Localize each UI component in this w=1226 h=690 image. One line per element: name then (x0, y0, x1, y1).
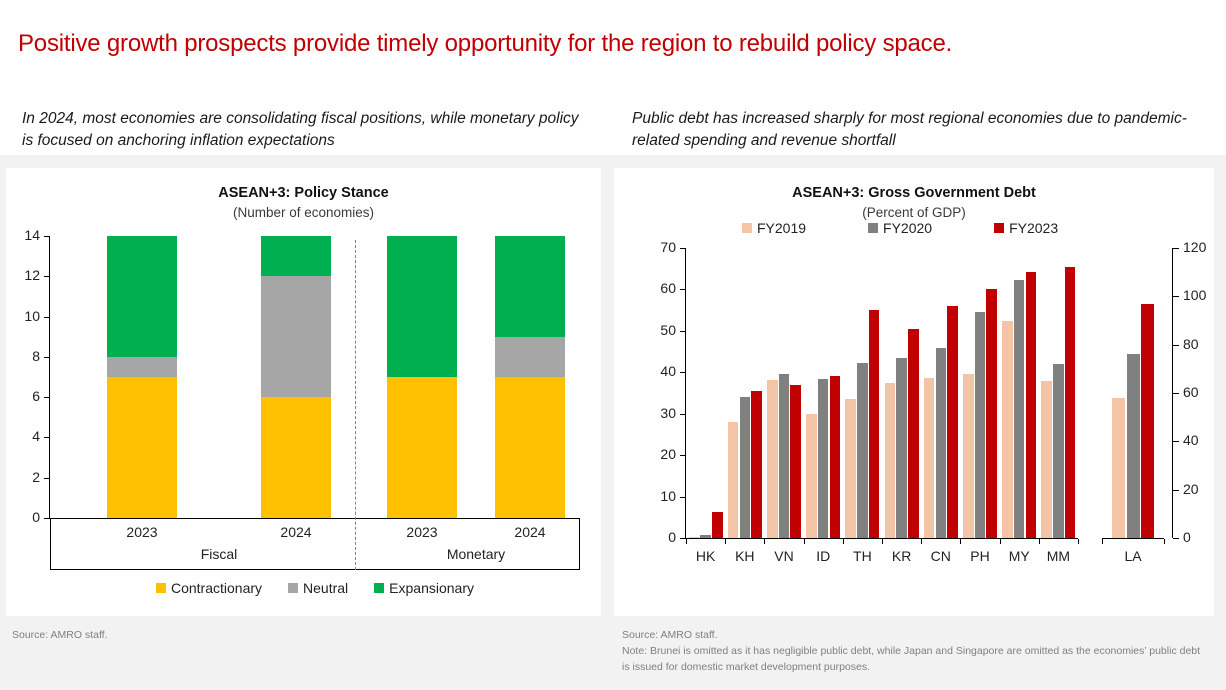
policy-stance-plot (50, 236, 580, 518)
right-subtitle: Public debt has increased sharply for mo… (632, 108, 1207, 152)
right-chart-x-tick (1039, 539, 1040, 544)
legend-item: FY2020 (868, 220, 932, 236)
right-chart-x2-axis-line (1102, 538, 1164, 539)
left-y-tick-label: 6 (6, 388, 40, 404)
policy-segment-contractionary (495, 377, 565, 518)
left-chart-subtitle: (Number of economies) (6, 204, 601, 222)
left-y-tick (44, 397, 50, 398)
right-chart-x-tick (843, 539, 844, 544)
policy-segment-contractionary (261, 397, 331, 518)
debt-bar (857, 363, 868, 538)
right-chart-x-label: MM (1028, 548, 1088, 564)
right-chart-y-tick-label: 40 (634, 363, 676, 379)
debt-plot-main (686, 248, 1078, 538)
right-chart-y2-tick-label: 100 (1183, 287, 1223, 303)
debt-bar (936, 348, 947, 538)
right-chart-panel: ASEAN+3: Gross Government Debt (Percent … (614, 168, 1214, 616)
left-y-axis-line (49, 236, 50, 518)
slide: Positive growth prospects provide timely… (0, 0, 1226, 690)
left-chart-legend: ContractionaryNeutralExpansionary (50, 580, 580, 596)
right-chart-y2-tick-label: 40 (1183, 432, 1223, 448)
left-group-label: Monetary (406, 546, 546, 562)
right-chart-y2-tick (1173, 248, 1179, 249)
legend-swatch-icon (156, 583, 166, 593)
legend-swatch-icon (288, 583, 298, 593)
policy-segment-neutral (107, 357, 177, 377)
left-y-tick-label: 14 (6, 227, 40, 243)
policy-segment-expansionary (107, 236, 177, 357)
policy-stance-bar (387, 236, 457, 518)
debt-bar (818, 379, 829, 538)
policy-segment-contractionary (387, 377, 457, 518)
right-chart-x-tick (725, 539, 726, 544)
right-chart-y-tick-label: 30 (634, 405, 676, 421)
right-chart-x-tick (882, 539, 883, 544)
left-subtitle: In 2024, most economies are consolidatin… (22, 108, 582, 152)
left-x-label: 2024 (251, 524, 341, 540)
debt-bar (845, 399, 856, 538)
left-source-note: Source: AMRO staff. (12, 628, 572, 644)
left-y-tick (44, 236, 50, 237)
legend-label: FY2020 (883, 220, 932, 236)
debt-bar (947, 306, 958, 538)
legend-label: Contractionary (171, 580, 262, 596)
page-title: Positive growth prospects provide timely… (18, 30, 1208, 58)
debt-bar (728, 422, 739, 538)
left-y-tick-label: 10 (6, 308, 40, 324)
debt-bar (751, 391, 762, 538)
right-chart-x2-tick (1102, 539, 1103, 544)
legend-label: FY2023 (1009, 220, 1058, 236)
debt-bar-secondary (1127, 354, 1140, 538)
right-chart-x-tick (960, 539, 961, 544)
left-y-tick (44, 357, 50, 358)
debt-bar (712, 512, 723, 538)
right-chart-y2-tick-label: 80 (1183, 336, 1223, 352)
legend-label: Expansionary (389, 580, 474, 596)
debt-bar (767, 380, 778, 538)
left-y-tick (44, 276, 50, 277)
debt-bar (1026, 272, 1037, 538)
policy-stance-bar (107, 236, 177, 518)
legend-item: Contractionary (156, 580, 262, 596)
right-chart-x-tick (1078, 539, 1079, 544)
legend-item: FY2023 (994, 220, 1058, 236)
right-chart-y-tick-label: 50 (634, 322, 676, 338)
left-chart-panel: ASEAN+3: Policy Stance (Number of econom… (6, 168, 601, 616)
left-y-tick (44, 437, 50, 438)
legend-label: FY2019 (757, 220, 806, 236)
gross-government-debt-chart: FY2019FY2020FY20230102030405060700204060… (614, 220, 1214, 616)
right-chart-y2-tick (1173, 538, 1179, 539)
debt-bar (1041, 381, 1052, 538)
debt-bar (779, 374, 790, 538)
debt-bar (830, 376, 841, 538)
left-y-tick-label: 2 (6, 469, 40, 485)
left-y-tick-label: 8 (6, 348, 40, 364)
right-chart-x2-label: LA (1103, 548, 1163, 564)
debt-bar-secondary (1112, 398, 1125, 538)
left-y-tick-label: 4 (6, 428, 40, 444)
left-group-label: Fiscal (149, 546, 289, 562)
debt-bar (740, 397, 751, 538)
right-chart-y-tick-label: 20 (634, 446, 676, 462)
policy-segment-contractionary (107, 377, 177, 518)
left-x-label: 2023 (97, 524, 187, 540)
legend-swatch-icon (742, 223, 752, 233)
right-chart-y2-tick (1173, 296, 1179, 297)
left-chart-title: ASEAN+3: Policy Stance (6, 184, 601, 204)
right-chart-y-tick-label: 0 (634, 529, 676, 545)
debt-bar (975, 312, 986, 538)
right-chart-x-tick (921, 539, 922, 544)
policy-stance-bar (261, 236, 331, 518)
right-chart-legend: FY2019FY2020FY2023 (742, 220, 1058, 236)
left-y-tick (44, 317, 50, 318)
debt-bar (1053, 364, 1064, 538)
left-y-tick-label: 0 (6, 509, 40, 525)
debt-bar (963, 374, 974, 538)
debt-bar (986, 289, 997, 538)
right-chart-x-tick (686, 539, 687, 544)
legend-swatch-icon (868, 223, 878, 233)
legend-swatch-icon (994, 223, 1004, 233)
right-chart-y2-tick (1173, 393, 1179, 394)
policy-stance-bar (495, 236, 565, 518)
legend-label: Neutral (303, 580, 348, 596)
right-chart-x-tick (764, 539, 765, 544)
debt-bar (1014, 280, 1025, 538)
right-source-note: Source: AMRO staff. Note: Brunei is omit… (622, 628, 1202, 675)
right-chart-y2-tick-label: 20 (1183, 481, 1223, 497)
right-chart-y2-tick-label: 0 (1183, 529, 1223, 545)
debt-bar (924, 378, 935, 538)
debt-bar (1002, 321, 1013, 538)
debt-bar (885, 383, 896, 538)
debt-bar (790, 385, 801, 538)
right-note-line: Note: Brunei is omitted as it has neglig… (622, 644, 1202, 676)
debt-plot-secondary (1102, 248, 1164, 538)
legend-item: Expansionary (374, 580, 474, 596)
left-y-tick (44, 478, 50, 479)
policy-segment-expansionary (387, 236, 457, 377)
legend-item: Neutral (288, 580, 348, 596)
right-chart-x-tick (1000, 539, 1001, 544)
left-source-line: Source: AMRO staff. (12, 628, 572, 644)
left-x-label: 2024 (485, 524, 575, 540)
debt-bar-secondary (1141, 304, 1154, 538)
left-group-divider (355, 240, 356, 570)
right-chart-y2-tick (1173, 345, 1179, 346)
debt-bar (908, 329, 919, 538)
debt-bar (806, 414, 817, 538)
left-x-label: 2023 (377, 524, 467, 540)
policy-segment-neutral (495, 337, 565, 377)
right-chart-y2-tick-label: 120 (1183, 239, 1223, 255)
right-chart-y-tick-label: 60 (634, 280, 676, 296)
right-chart-y2-tick (1173, 441, 1179, 442)
left-y-tick-label: 12 (6, 267, 40, 283)
right-chart-y-tick-label: 10 (634, 488, 676, 504)
policy-segment-expansionary (261, 236, 331, 276)
policy-stance-chart: 024681012142023202420232024FiscalMonetar… (6, 228, 601, 616)
right-chart-y2-tick (1173, 490, 1179, 491)
debt-bar (1065, 267, 1076, 538)
right-chart-x-tick (804, 539, 805, 544)
legend-swatch-icon (374, 583, 384, 593)
right-source-line: Source: AMRO staff. (622, 628, 1202, 644)
right-chart-y-tick-label: 70 (634, 239, 676, 255)
right-chart-x2-tick (1164, 539, 1165, 544)
legend-item: FY2019 (742, 220, 806, 236)
debt-bar (869, 310, 880, 538)
debt-bar (896, 358, 907, 538)
policy-segment-expansionary (495, 236, 565, 337)
policy-segment-neutral (261, 276, 331, 397)
right-chart-y2-tick-label: 60 (1183, 384, 1223, 400)
right-chart-title: ASEAN+3: Gross Government Debt (614, 184, 1214, 204)
